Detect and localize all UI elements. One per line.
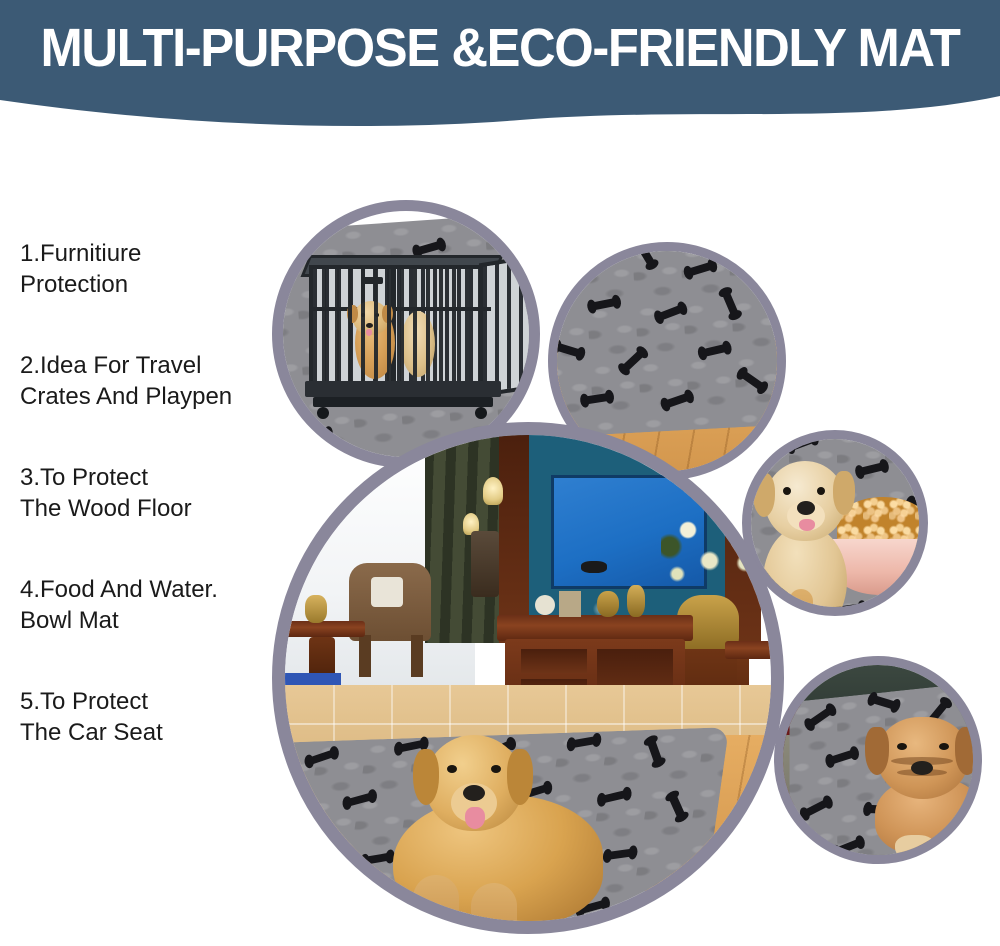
crate-wheel xyxy=(317,407,329,419)
feature-item-1: 1.Furnitiure Protection xyxy=(20,238,280,300)
dog-tongue xyxy=(465,807,485,829)
puppy-paw xyxy=(895,835,935,855)
picture-frame xyxy=(559,591,581,617)
coffee-table-top xyxy=(285,621,365,637)
ornament xyxy=(627,585,645,617)
crate-front-bars xyxy=(309,265,491,383)
puppy-ear xyxy=(865,727,889,775)
bone-icon xyxy=(607,848,634,860)
bone-icon xyxy=(584,393,611,405)
chair-leg xyxy=(359,635,371,677)
bone-icon xyxy=(308,749,335,765)
bone-icon xyxy=(664,392,691,408)
scene-food-bowl xyxy=(751,439,919,607)
crate-stand xyxy=(313,397,493,407)
bone-icon xyxy=(871,695,898,710)
feature-item-3: 3.To Protect The Wood Floor xyxy=(20,462,280,524)
bone-icon xyxy=(722,290,740,317)
clock xyxy=(535,595,555,615)
bone-icon xyxy=(739,370,765,391)
dog-tongue xyxy=(799,519,815,531)
feature-item-4: 4.Food And Water. Bowl Mat xyxy=(20,574,280,636)
bone-icon xyxy=(311,894,339,915)
cabinet-drawer xyxy=(521,649,587,673)
table-ornament xyxy=(305,595,327,623)
puppy-eye xyxy=(897,743,907,750)
lamp xyxy=(483,477,503,505)
scene-crate xyxy=(283,211,529,457)
ornament xyxy=(597,591,619,617)
dog-nose xyxy=(463,785,485,801)
flower-arrangement xyxy=(661,497,769,607)
bone-icon xyxy=(788,439,815,451)
dog-nose xyxy=(797,501,815,515)
cabinet-top xyxy=(497,615,693,641)
bone-icon xyxy=(858,462,885,476)
photo-circle-car-seat xyxy=(774,656,982,864)
bone-icon xyxy=(701,344,728,358)
bone-icon xyxy=(668,793,685,819)
scene-living-room xyxy=(285,435,771,921)
dog-eye xyxy=(491,765,501,773)
bone-icon xyxy=(647,738,663,765)
bone-icon xyxy=(591,298,618,311)
chair-leg xyxy=(411,635,423,677)
dog-eye xyxy=(447,765,457,773)
puppy-ear xyxy=(955,727,973,775)
dog-ear xyxy=(833,471,855,515)
page-title: MULTI-PURPOSE &ECO-FRIENDLY MAT xyxy=(30,18,970,78)
side-table-top xyxy=(725,641,771,659)
photo-circle-living-room xyxy=(272,422,784,934)
puppy-nose xyxy=(911,761,933,775)
bone-icon xyxy=(601,790,628,804)
lamp-base xyxy=(471,531,499,597)
dog-ear xyxy=(413,749,439,805)
dog-ear xyxy=(507,749,533,805)
bone-icon xyxy=(346,792,373,807)
dog-leg xyxy=(789,589,813,607)
bone-icon xyxy=(657,304,684,321)
cushion xyxy=(371,577,403,607)
feature-item-5: 5.To Protect The Car Seat xyxy=(20,686,280,748)
bone-icon xyxy=(557,342,582,357)
infographic-page: MULTI-PURPOSE &ECO-FRIENDLY MAT 1.Furnit… xyxy=(0,0,1000,946)
crate-wheel xyxy=(475,407,487,419)
bone-icon xyxy=(621,349,645,373)
bone-icon xyxy=(416,241,443,256)
dog-eye xyxy=(817,487,825,495)
dog-eye xyxy=(783,487,791,495)
bone-icon xyxy=(571,736,597,748)
tv-stand-object xyxy=(581,561,607,573)
wood-column xyxy=(499,435,529,643)
bone-icon xyxy=(561,260,587,280)
feature-item-2: 2.Idea For Travel Crates And Playpen xyxy=(20,350,280,412)
dog-front-leg xyxy=(413,875,459,921)
bone-icon xyxy=(285,846,312,865)
bone-icon xyxy=(835,838,862,855)
bone-icon xyxy=(829,749,856,765)
bone-icon xyxy=(807,706,833,728)
bone-icon xyxy=(687,261,714,276)
crate-tray xyxy=(305,381,501,397)
bone-icon xyxy=(635,251,655,267)
bone-icon xyxy=(285,797,296,819)
puppy-paw xyxy=(937,833,973,855)
bone-icon xyxy=(364,852,390,864)
pet-mat xyxy=(557,251,777,437)
feature-list: 1.Furnitiure Protection 2.Idea For Trave… xyxy=(20,238,280,748)
dog-front-leg xyxy=(471,883,517,921)
scene-car-seat xyxy=(783,665,973,855)
bone-icon xyxy=(803,798,830,817)
puppy-eye xyxy=(939,743,949,750)
